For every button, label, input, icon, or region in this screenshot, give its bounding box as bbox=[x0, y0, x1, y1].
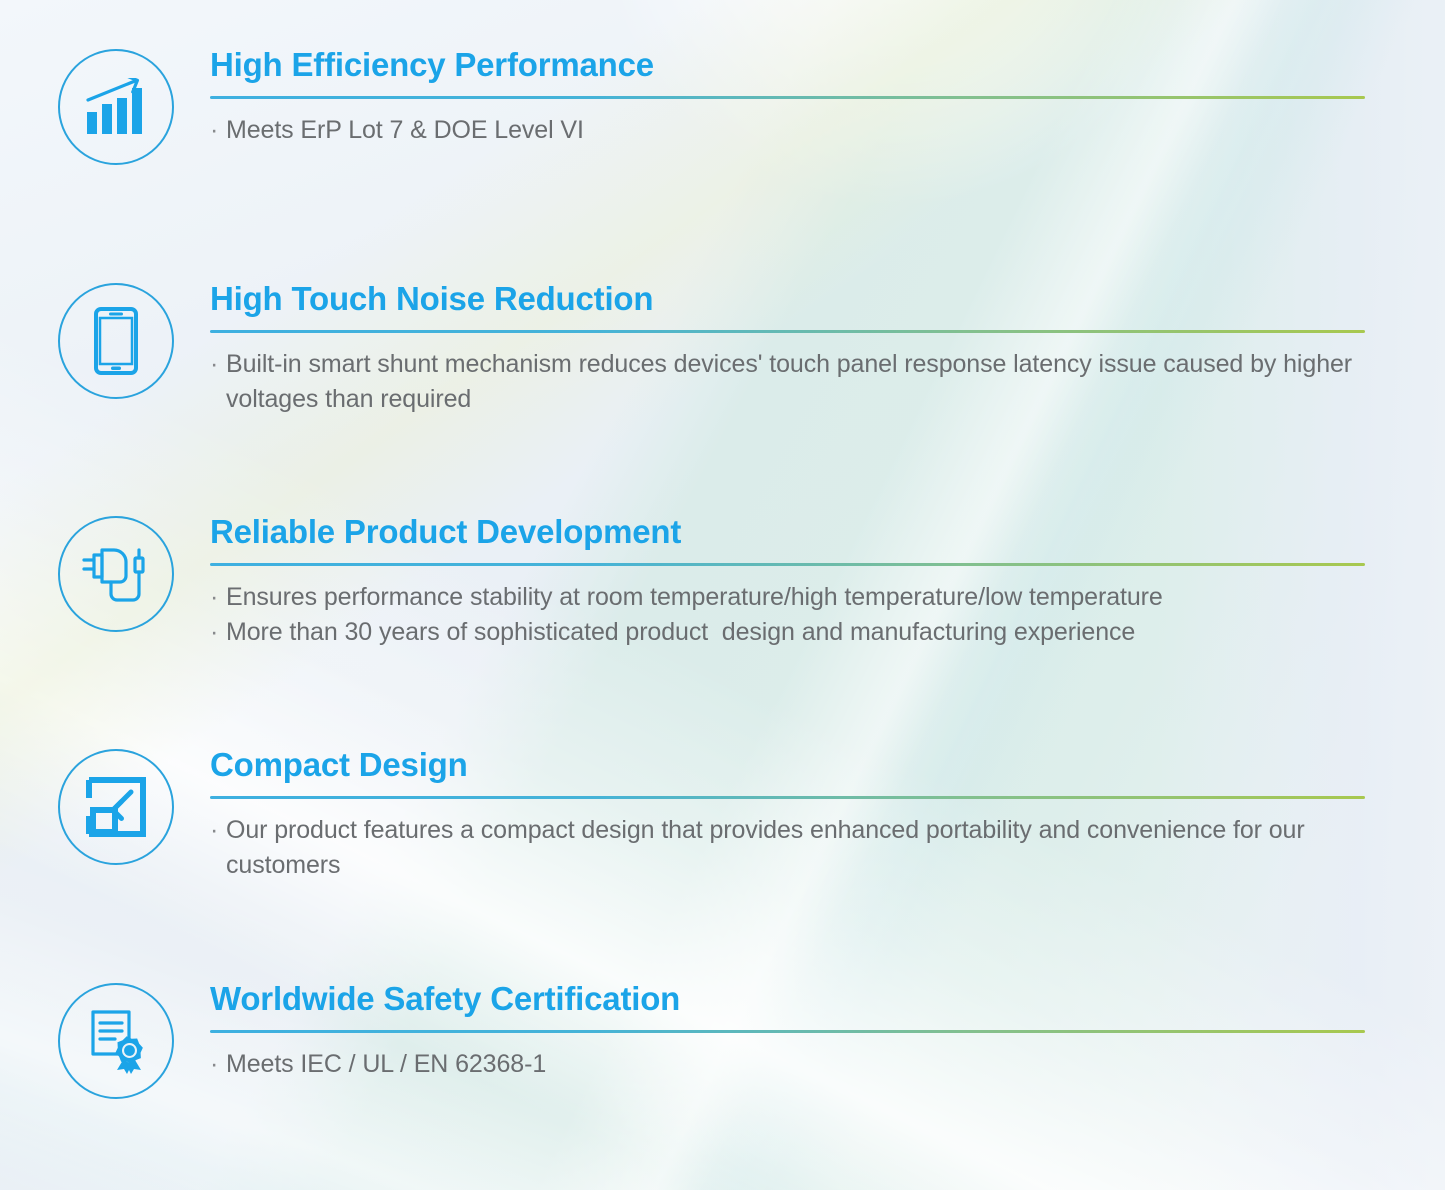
bullet-marker: · bbox=[210, 813, 226, 849]
feature-bullet: · Ensures performance stability at room … bbox=[210, 580, 1365, 616]
bullet-marker: · bbox=[210, 347, 226, 383]
feature-bullets: · Our product features a compact design … bbox=[210, 813, 1365, 884]
feature-bullet: · Our product features a compact design … bbox=[210, 813, 1365, 884]
compact-resize-icon bbox=[58, 749, 174, 865]
feature-bullets: · Built-in smart shunt mechanism reduces… bbox=[210, 347, 1365, 418]
bullet-marker: · bbox=[210, 1047, 226, 1083]
feature-bullet: · More than 30 years of sophisticated pr… bbox=[210, 615, 1365, 651]
feature-bullets: · Meets IEC / UL / EN 62368-1 bbox=[210, 1047, 1365, 1083]
feature-icon-wrapper bbox=[57, 748, 175, 866]
feature-divider bbox=[210, 1030, 1365, 1033]
feature-icon-wrapper bbox=[57, 515, 175, 633]
feature-content: High Efficiency Performance · Meets ErP … bbox=[210, 48, 1365, 148]
bullet-text: Our product features a compact design th… bbox=[226, 813, 1365, 884]
bullet-marker: · bbox=[210, 113, 226, 149]
feature-icon-wrapper bbox=[57, 48, 175, 166]
bar-chart-growth-icon bbox=[58, 49, 174, 165]
feature-title: High Efficiency Performance bbox=[210, 48, 1365, 83]
feature-title: Compact Design bbox=[210, 748, 1365, 783]
feature-content: High Touch Noise Reduction · Built-in sm… bbox=[210, 282, 1365, 418]
bullet-text: Built-in smart shunt mechanism reduces d… bbox=[226, 347, 1365, 418]
bullet-text: Meets ErP Lot 7 & DOE Level VI bbox=[226, 113, 1365, 149]
feature-bullet: · Meets ErP Lot 7 & DOE Level VI bbox=[210, 113, 1365, 149]
feature-highlights-page: High Efficiency Performance · Meets ErP … bbox=[0, 0, 1445, 1190]
feature-content: Reliable Product Development · Ensures p… bbox=[210, 515, 1365, 651]
feature-divider bbox=[210, 330, 1365, 333]
feature-icon-wrapper bbox=[57, 982, 175, 1100]
feature-bullets: · Ensures performance stability at room … bbox=[210, 580, 1365, 651]
feature-title: Reliable Product Development bbox=[210, 515, 1365, 550]
feature-content: Worldwide Safety Certification · Meets I… bbox=[210, 982, 1365, 1082]
feature-divider bbox=[210, 796, 1365, 799]
bullet-marker: · bbox=[210, 615, 226, 651]
feature-bullets: · Meets ErP Lot 7 & DOE Level VI bbox=[210, 113, 1365, 149]
feature-content: Compact Design · Our product features a … bbox=[210, 748, 1365, 884]
certificate-award-icon bbox=[58, 983, 174, 1099]
feature-divider bbox=[210, 96, 1365, 99]
smartphone-icon bbox=[58, 283, 174, 399]
feature-bullet: · Meets IEC / UL / EN 62368-1 bbox=[210, 1047, 1365, 1083]
power-adapter-icon bbox=[58, 516, 174, 632]
feature-title: Worldwide Safety Certification bbox=[210, 982, 1365, 1017]
feature-title: High Touch Noise Reduction bbox=[210, 282, 1365, 317]
feature-divider bbox=[210, 563, 1365, 566]
bullet-text: Ensures performance stability at room te… bbox=[226, 580, 1365, 616]
bullet-text: Meets IEC / UL / EN 62368-1 bbox=[226, 1047, 1365, 1083]
bullet-marker: · bbox=[210, 580, 226, 616]
feature-icon-wrapper bbox=[57, 282, 175, 400]
bullet-text: More than 30 years of sophisticated prod… bbox=[226, 615, 1365, 651]
feature-bullet: · Built-in smart shunt mechanism reduces… bbox=[210, 347, 1365, 418]
